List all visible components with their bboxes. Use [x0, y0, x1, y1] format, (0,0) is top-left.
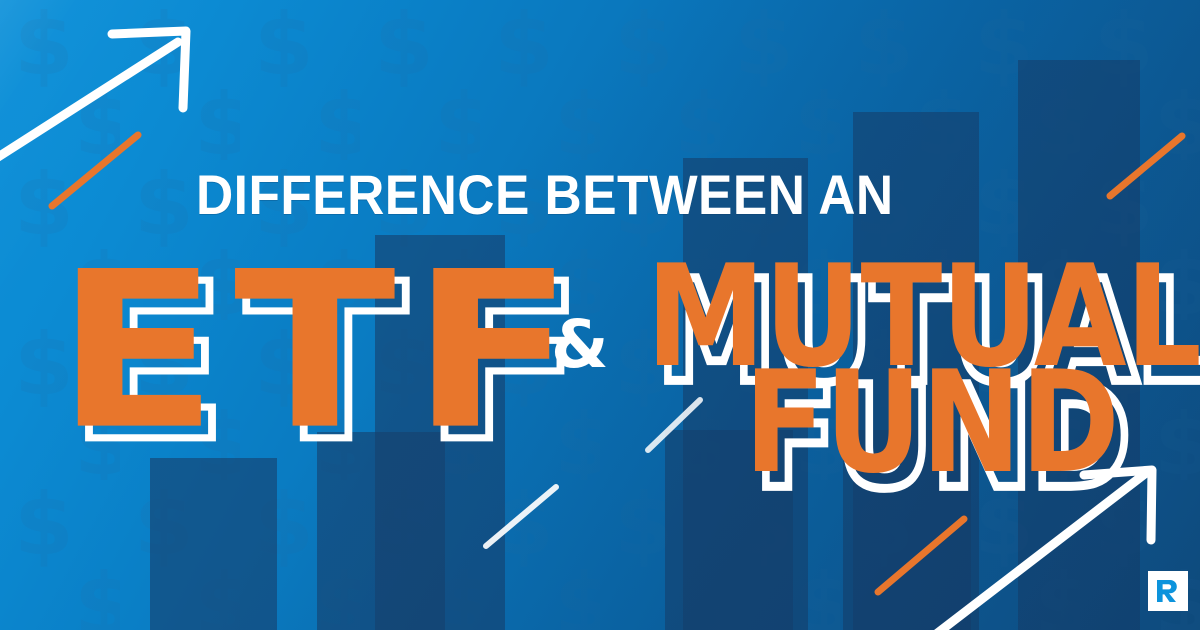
- headline-text: DIFFERENCE BETWEEN AN: [196, 166, 894, 224]
- title-word-fund: FUND FUND: [744, 352, 1119, 493]
- title-word-etf-fill: ETF: [56, 225, 589, 477]
- ampersand: &: [551, 312, 609, 378]
- ramsey-r-icon: [1155, 578, 1181, 604]
- hero-graphic: $ $: [0, 0, 1200, 630]
- ramsey-logo[interactable]: [1148, 571, 1188, 611]
- title-word-etf: ETF ETF: [56, 243, 589, 459]
- title-word-fund-fill: FUND: [744, 340, 1119, 504]
